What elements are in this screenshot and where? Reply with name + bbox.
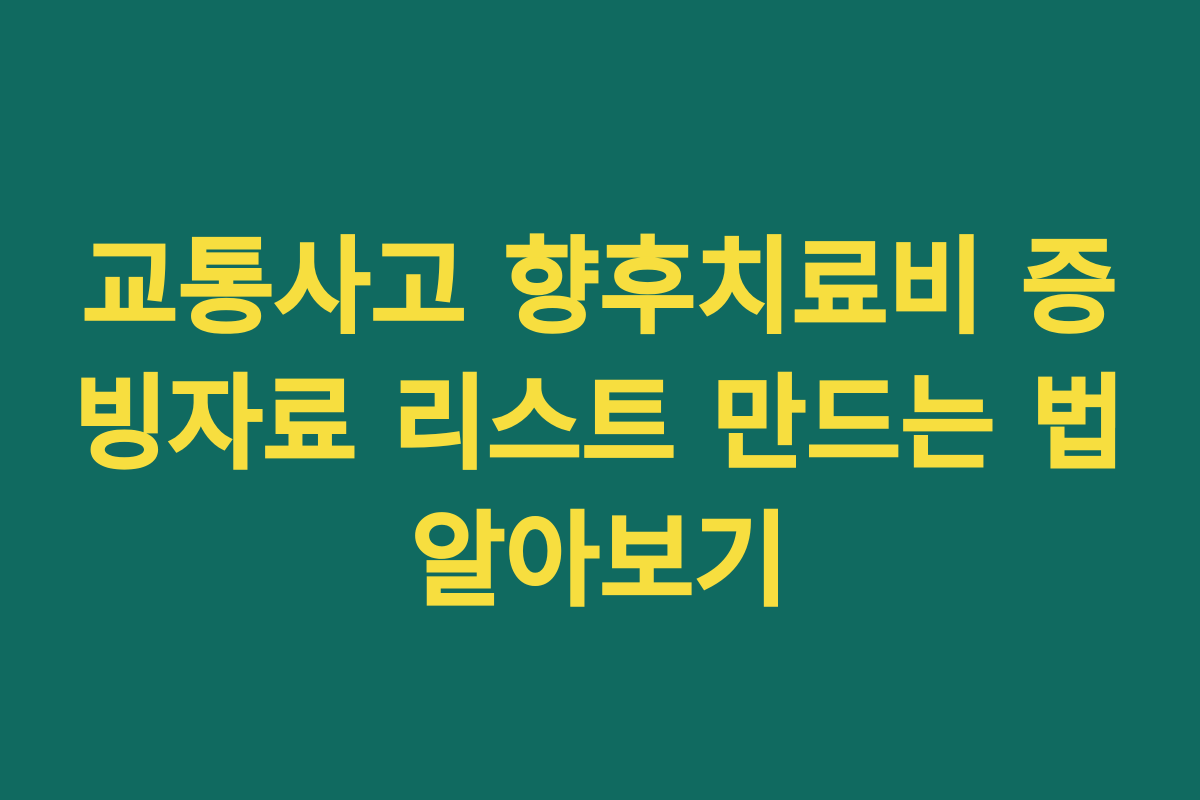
page-title: 교통사고 향후치료비 증 빙자료 리스트 만드는 법 알아보기 [70, 218, 1130, 631]
thumbnail-card: 교통사고 향후치료비 증 빙자료 리스트 만드는 법 알아보기 [0, 0, 1200, 800]
title-line-1: 교통사고 향후치료비 증 [70, 218, 1130, 357]
title-line-3: 알아보기 [70, 494, 1130, 631]
title-line-2: 빙자료 리스트 만드는 법 [70, 357, 1130, 494]
